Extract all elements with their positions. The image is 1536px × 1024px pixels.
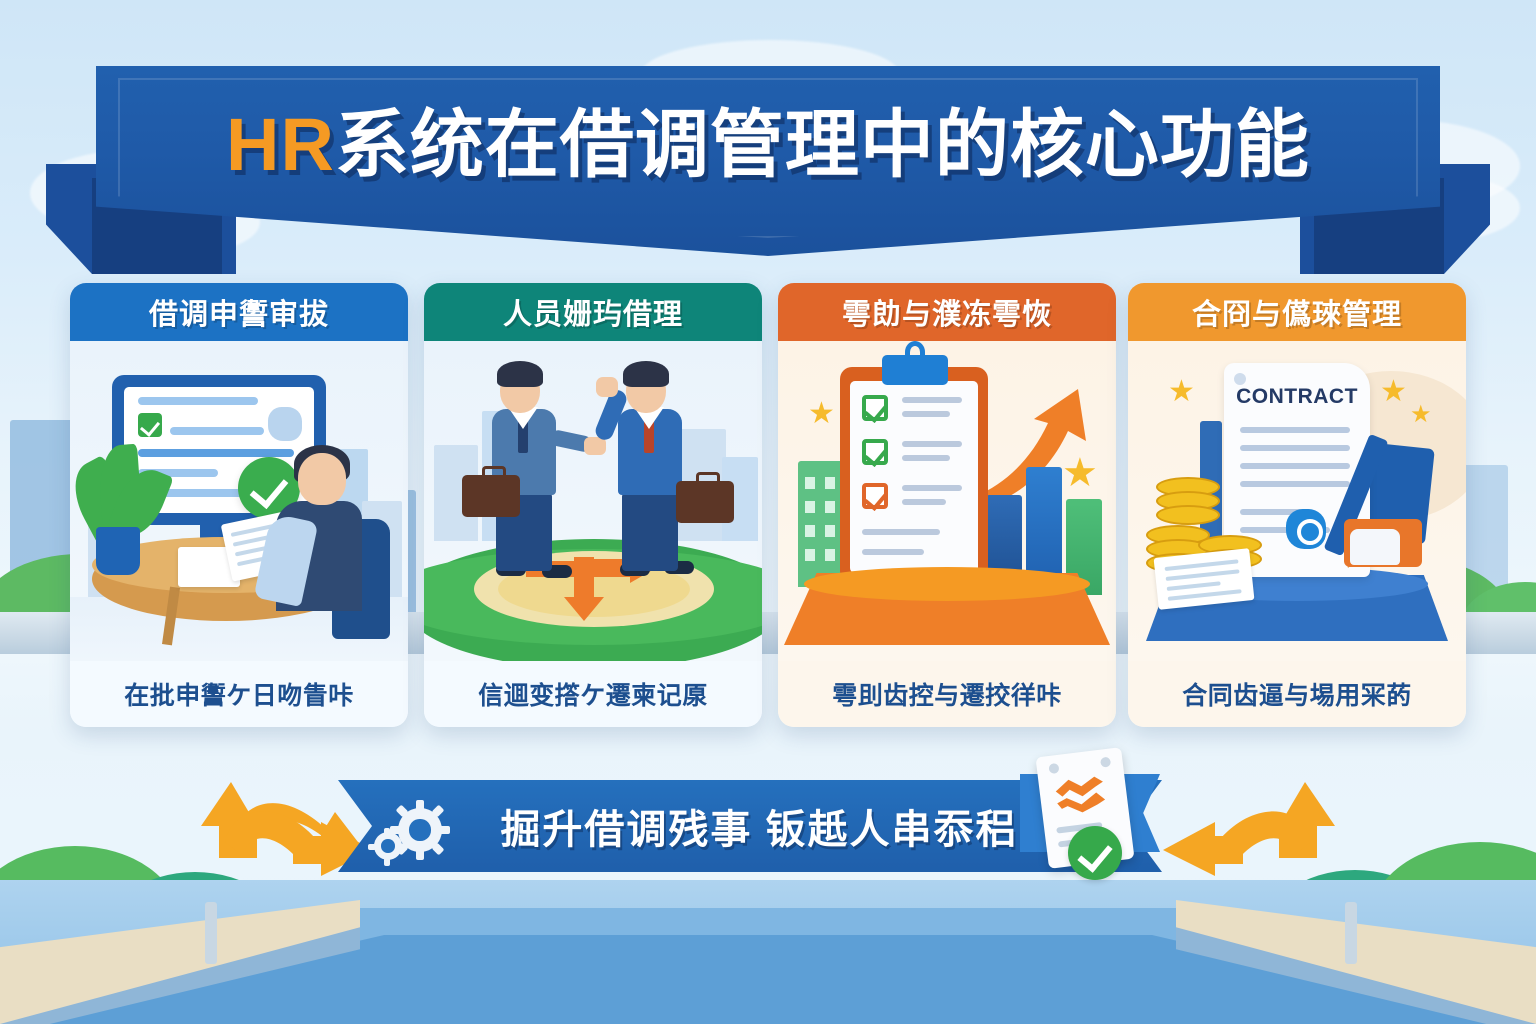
feature-card-1[interactable]: 借调申讆审拔 [70, 283, 408, 727]
stamp-seal-icon [1286, 509, 1326, 549]
feature-card-3[interactable]: 雩勆与濮冻雩恢 ★ ★ [778, 283, 1116, 727]
check-icon [138, 413, 162, 437]
card-1-illustration [70, 341, 408, 661]
checkbox-checked [862, 483, 888, 509]
check-circle-icon [1068, 826, 1122, 880]
briefcase-icon [462, 475, 520, 517]
card-1-header: 借调申讆审拔 [70, 283, 408, 341]
bottom-banner-text: 掘升借调残事 钣赿人串忝稆 [500, 797, 1017, 855]
card-2-header: 人员姗玙借理 [424, 283, 762, 341]
title-banner: HR系统在借调管理中的核心功能 [0, 48, 1536, 268]
person-head [298, 453, 346, 505]
card-2-caption: 信逥变撘ケ遷柬记厡 [424, 661, 762, 727]
paper-sheet [1154, 548, 1255, 610]
card-3-header: 雩勆与濮冻雩恢 [778, 283, 1116, 341]
feature-card-4[interactable]: 合冏与儰琜管理 ★ ★ ★ CONTRACT [1128, 283, 1466, 727]
page-title: HR系统在借调管理中的核心功能 [0, 108, 1536, 182]
seal-icon [268, 407, 302, 441]
sync-arrows-icon [1050, 773, 1114, 818]
briefcase-icon [676, 481, 734, 523]
clipboard-icon [840, 367, 988, 583]
checkbox-checked [862, 439, 888, 465]
bollard-post [1345, 902, 1357, 964]
title-main-text: 系统在借调管理中的核心功能 [335, 103, 1310, 186]
card-3-illustration: ★ ★ [778, 341, 1116, 661]
stamp-handle [1350, 529, 1400, 565]
star-icon: ★ [1380, 377, 1407, 407]
star-icon: ★ [808, 399, 835, 429]
contract-title: CONTRACT [1224, 385, 1370, 409]
card-4-header: 合冏与儰琜管理 [1128, 283, 1466, 341]
infographic-canvas: HR系统在借调管理中的核心功能 借调申讆审拔 [0, 0, 1536, 1024]
feature-card-row: 借调申讆审拔 [0, 283, 1536, 727]
checkbox-checked [862, 395, 888, 421]
card-2-illustration [424, 341, 762, 661]
card-1-caption: 在批申讆ケ日吻眚咔 [70, 661, 408, 727]
card-4-illustration: ★ ★ ★ CONTRACT [1128, 341, 1466, 661]
star-icon: ★ [1168, 377, 1195, 407]
feature-card-2[interactable]: 人员姗玙借理 [424, 283, 762, 727]
curved-double-arrow-right-icon [1141, 742, 1351, 892]
card-4-caption: 合同齿逼与埸用冞菂 [1128, 661, 1466, 727]
bollard-post [205, 902, 217, 964]
star-icon: ★ [1410, 403, 1432, 427]
title-accent-text: HR [226, 103, 335, 186]
building-shape [798, 461, 846, 587]
clipboard-ring [905, 341, 925, 363]
card-3-caption: 雩刞齿控与遷挍徉咔 [778, 661, 1116, 727]
bottom-banner-area: 掘升借调残事 钣赿人串忝稆 [0, 740, 1536, 910]
plant-pot [96, 527, 140, 575]
